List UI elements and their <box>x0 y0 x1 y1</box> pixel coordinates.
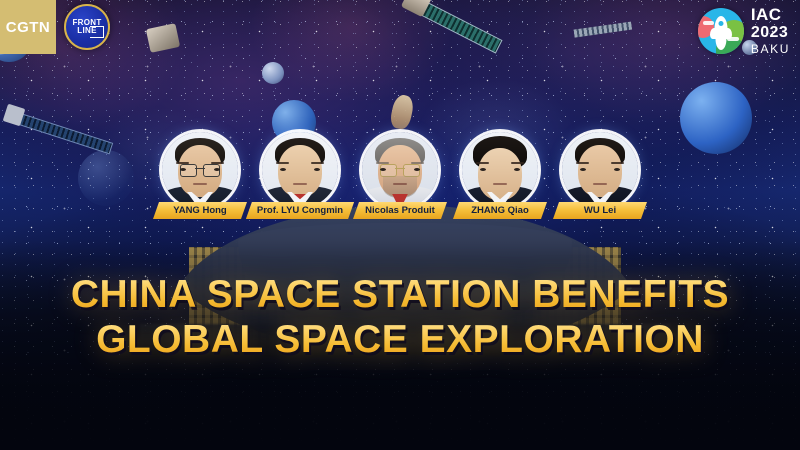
avatar <box>162 132 238 208</box>
guest-name: WU Lei <box>584 205 616 216</box>
cgtn-logo[interactable]: CGTN <box>0 0 56 54</box>
frontline-bracket-icon <box>90 26 104 38</box>
guest-name: YANG Hong <box>173 205 226 216</box>
broadcast-lower-third-graphic: CGTN FRONT LINE IAC 2023 BAKU <box>0 0 800 450</box>
guest-card: ZHANG Qiao <box>456 132 544 219</box>
guest-name: Nicolas Produit <box>365 205 435 216</box>
iac-logo-text: IAC 2023 BAKU <box>751 6 790 55</box>
guest-nameplate: WU Lei <box>553 202 647 219</box>
rocket-window-icon <box>718 21 723 26</box>
iac-event-logo[interactable]: IAC 2023 BAKU <box>698 6 790 55</box>
rocket-icon <box>714 16 727 38</box>
headline-line-2: GLOBAL SPACE EXPLORATION <box>0 317 800 362</box>
guest-name: Prof. LYU Congmin <box>257 205 343 216</box>
iac-year: 2023 <box>751 25 790 41</box>
cgtn-logo-text: CGTN <box>6 19 51 36</box>
guest-panel: YANG Hong Prof. LYU Congmin <box>0 132 800 219</box>
guest-card: WU Lei <box>556 132 644 219</box>
cloud-icon-a <box>703 21 714 25</box>
guest-nameplate: Nicolas Produit <box>353 202 447 219</box>
frontline-badge: FRONT LINE <box>64 4 110 50</box>
avatar <box>562 132 638 208</box>
guest-card: Nicolas Produit <box>356 132 444 219</box>
channel-logo-bar: CGTN FRONT LINE <box>0 0 118 54</box>
headline-line-1: CHINA SPACE STATION BENEFITS <box>0 272 800 317</box>
guest-card: Prof. LYU Congmin <box>256 132 344 219</box>
guest-nameplate: ZHANG Qiao <box>453 202 547 219</box>
avatar <box>362 132 438 208</box>
avatar <box>462 132 538 208</box>
iac-city: BAKU <box>751 43 790 55</box>
guest-nameplate: YANG Hong <box>153 202 247 219</box>
planet-small-upper <box>262 62 284 84</box>
guest-card: YANG Hong <box>156 132 244 219</box>
guest-nameplate: Prof. LYU Congmin <box>246 202 354 219</box>
frontline-logo[interactable]: FRONT LINE <box>56 0 118 54</box>
iac-emblem-icon <box>698 8 744 54</box>
iac-acronym: IAC <box>751 6 790 23</box>
headline: CHINA SPACE STATION BENEFITS GLOBAL SPAC… <box>0 272 800 362</box>
avatar <box>262 132 338 208</box>
guest-name: ZHANG Qiao <box>471 205 529 216</box>
